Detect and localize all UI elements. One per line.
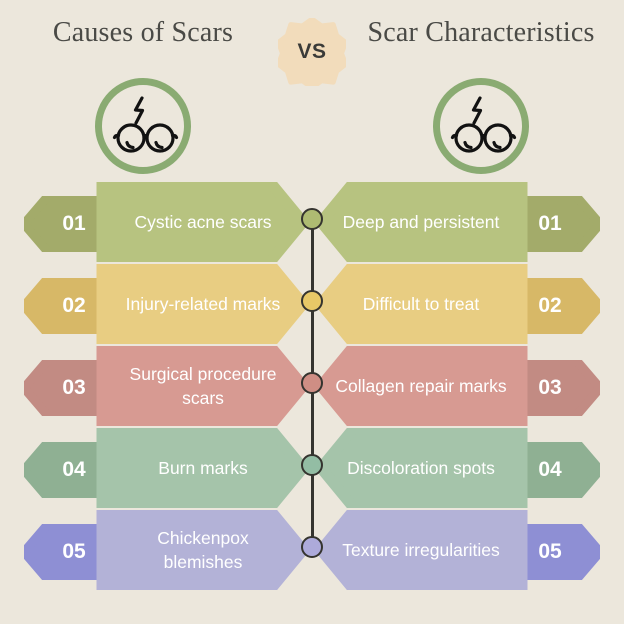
- row-label-text-left: Chickenpox blemishes: [112, 510, 294, 590]
- connector-dot: [301, 290, 323, 312]
- row-left-item[interactable]: 05 Chickenpox blemishes: [12, 510, 307, 592]
- page-title-left: Causes of Scars: [8, 16, 278, 49]
- row-label-text-right: Difficult to treat: [330, 264, 512, 344]
- row-plate-right: Deep and persistent: [317, 182, 530, 262]
- vs-badge: VS: [278, 18, 346, 86]
- row-plate-left: Chickenpox blemishes: [94, 510, 307, 590]
- row-plate-left: Cystic acne scars: [94, 182, 307, 262]
- row-label-text-left: Surgical procedure scars: [112, 346, 294, 426]
- header: Causes of Scars Scar Characteristics: [0, 0, 624, 182]
- row-plate-left: Injury-related marks: [94, 264, 307, 344]
- row-plate-left: Burn marks: [94, 428, 307, 508]
- glasses-lightning-scar-icon-right: [433, 78, 529, 174]
- row-label-text-right: Deep and persistent: [330, 182, 512, 262]
- row-left-item[interactable]: 04 Burn marks: [12, 428, 307, 510]
- row-label-text-right: Texture irregularities: [330, 510, 512, 590]
- connector-dot: [301, 536, 323, 558]
- glasses-lightning-scar-icon-left: [95, 78, 191, 174]
- header-right-column: Scar Characteristics: [346, 0, 616, 182]
- row-right-item[interactable]: 01 Deep and persistent: [317, 182, 612, 264]
- connector-dot: [301, 372, 323, 394]
- row-label-text-left: Cystic acne scars: [112, 182, 294, 262]
- row-plate-right: Texture irregularities: [317, 510, 530, 590]
- row-right-item[interactable]: 02 Difficult to treat: [317, 264, 612, 346]
- row-right-item[interactable]: 03 Collagen repair marks: [317, 346, 612, 428]
- row-right-item[interactable]: 04 Discoloration spots: [317, 428, 612, 510]
- row-left-item[interactable]: 01 Cystic acne scars: [12, 182, 307, 264]
- row-plate-left: Surgical procedure scars: [94, 346, 307, 426]
- connector-dot: [301, 208, 323, 230]
- row-label-text-left: Burn marks: [112, 428, 294, 508]
- row-plate-right: Discoloration spots: [317, 428, 530, 508]
- connector-dot: [301, 454, 323, 476]
- row-label-text-left: Injury-related marks: [112, 264, 294, 344]
- header-left-column: Causes of Scars: [8, 0, 278, 182]
- row-right-item[interactable]: 05 Texture irregularities: [317, 510, 612, 592]
- row-left-item[interactable]: 03 Surgical procedure scars: [12, 346, 307, 428]
- row-label-text-right: Collagen repair marks: [330, 346, 512, 426]
- row-left-item[interactable]: 02 Injury-related marks: [12, 264, 307, 346]
- page-title-right: Scar Characteristics: [346, 16, 616, 49]
- row-label-text-right: Discoloration spots: [330, 428, 512, 508]
- center-connector: [309, 208, 315, 558]
- vs-badge-label: VS: [278, 18, 346, 86]
- row-plate-right: Collagen repair marks: [317, 346, 530, 426]
- row-plate-right: Difficult to treat: [317, 264, 530, 344]
